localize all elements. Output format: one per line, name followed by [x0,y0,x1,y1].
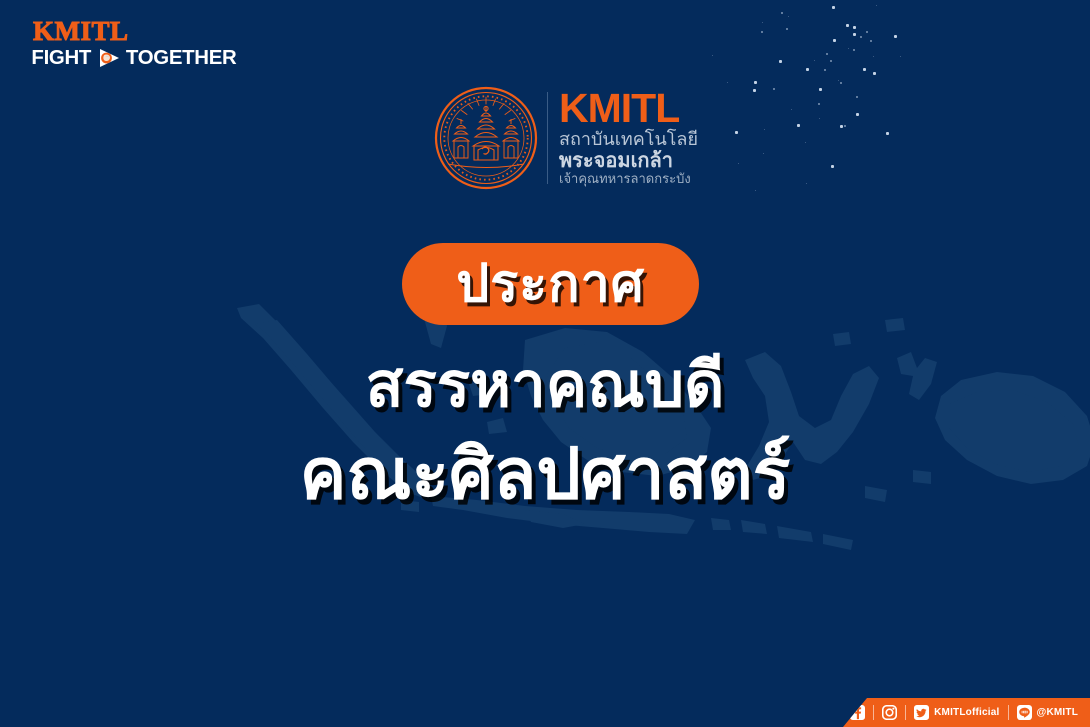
star-dot [773,88,775,90]
social-separator [1008,705,1009,720]
star-dot [844,125,846,127]
social-handle-label: KMITLofficial [934,708,999,718]
star-dot [900,56,901,57]
star-dot [846,24,849,27]
star-dot [786,28,788,30]
star-field-decoration [700,0,1090,205]
star-dot [848,48,849,49]
star-dot [853,26,856,29]
star-dot [886,132,889,135]
logo-thai-line-2: พระจอมเกล้า [559,150,698,172]
star-dot [781,12,783,14]
star-dot [840,125,843,128]
star-dot [788,16,789,17]
star-dot [764,129,765,130]
star-dot [797,124,800,127]
star-dot [805,142,806,143]
social-link-twitter[interactable]: KMITLofficial [914,705,999,720]
social-link-line[interactable]: @KMITL [1017,705,1079,720]
star-dot [866,31,868,33]
star-dot [856,113,859,116]
star-dot [838,80,839,81]
announcement-badge: ประกาศ [402,243,699,325]
star-dot [833,39,836,42]
star-dot [832,6,835,9]
star-dot [818,103,820,105]
logo-thai-line-1: สถาบันเทคโนโลยี [559,129,698,149]
announcement-poster: KMITL FIGHT TOGETHER [0,0,1090,727]
announcement-badge-label: ประกาศ [456,258,645,310]
star-dot [831,165,834,168]
star-dot [870,40,872,42]
logo-text-block: KMITL สถาบันเทคโนโลยี พระจอมเกล้า เจ้าคุ… [559,89,698,186]
logo-thai-line-3: เจ้าคุณทหารลาดกระบัง [559,172,698,187]
star-dot [860,36,862,38]
star-dot [873,72,876,75]
star-dot [761,31,763,33]
star-dot [853,33,856,36]
twitter-icon [914,705,929,720]
star-dot [712,55,713,56]
star-dot [735,131,738,134]
star-dot [763,153,764,154]
star-dot [762,22,763,23]
social-link-instagram[interactable] [882,705,897,720]
star-dot [753,89,756,92]
kmitl-fight-together-logo: KMITL FIGHT TOGETHER [32,18,212,70]
star-dot [824,69,826,71]
social-separator [873,705,874,720]
kmitl-royal-seal-icon [434,86,538,190]
headline-block: สรรหาคณบดี คณะศิลปศาสตร์ [0,355,1090,509]
star-dot [894,35,897,38]
tagline-together: TOGETHER [125,48,236,68]
star-dot [873,56,874,57]
star-dot [830,60,832,62]
line-icon [1017,705,1032,720]
logo-divider [547,92,548,184]
star-dot [863,68,866,71]
star-dot [814,60,815,61]
star-dot [806,68,809,71]
headline-line-2: คณะศิลปศาสตร์ [0,439,1090,509]
star-dot [791,109,792,110]
star-dot [826,53,828,55]
star-dot [819,118,820,119]
headline-line-1: สรรหาคณบดี [0,355,1090,417]
star-dot [819,88,822,91]
social-separator [905,705,906,720]
social-link-facebook[interactable] [850,705,865,720]
social-media-bar: KMITLofficial@KMITL [843,698,1090,727]
star-dot [779,60,782,63]
instagram-icon [882,705,897,720]
star-dot [856,96,858,98]
brand-lockup-tagline: FIGHT TOGETHER [32,47,212,69]
facebook-icon [850,705,865,720]
tagline-fight: FIGHT [31,48,91,68]
star-dot [853,49,855,51]
kmitl-institution-logo: KMITL สถาบันเทคโนโลยี พระจอมเกล้า เจ้าคุ… [434,84,692,192]
star-dot [876,5,877,6]
star-dot [806,183,807,184]
star-dot [738,163,739,164]
social-handle-label: @KMITL [1037,708,1079,718]
play-triangle-mascot-icon [97,47,121,69]
logo-acronym: KMITL [559,89,698,128]
star-dot [755,190,756,191]
star-dot [840,82,842,84]
star-dot [754,81,757,84]
star-dot [727,82,728,83]
brand-lockup-wordmark: KMITL [33,18,212,45]
